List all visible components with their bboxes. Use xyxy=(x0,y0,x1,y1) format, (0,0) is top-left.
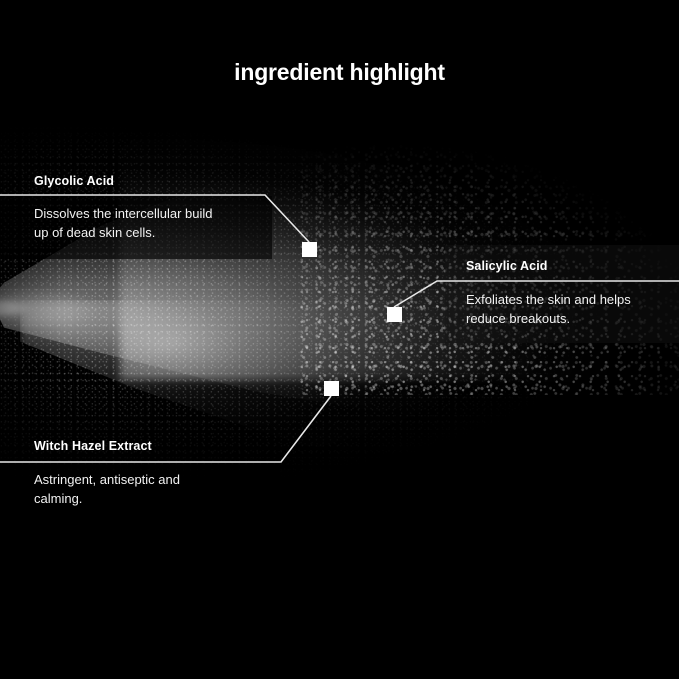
callout-body-salicylic-acid: Exfoliates the skin and helps reduce bre… xyxy=(466,290,631,328)
callout-title-glycolic-acid: Glycolic Acid xyxy=(34,174,212,188)
callout-salicylic-acid: Salicylic Acid Exfoliates the skin and h… xyxy=(466,259,631,328)
callout-body-glycolic-acid: Dissolves the intercellular build up of … xyxy=(34,204,212,242)
callout-witch-hazel-extract: Witch Hazel Extract Astringent, antisept… xyxy=(34,439,180,508)
callout-title-witch-hazel-extract: Witch Hazel Extract xyxy=(34,439,180,453)
marker-glycolic-acid[interactable] xyxy=(302,242,317,257)
ingredient-highlight-infographic: ingredient highlight Glycolic Acid Disso… xyxy=(0,0,679,679)
marker-salicylic-acid[interactable] xyxy=(387,307,402,322)
vignette-bottom xyxy=(0,380,679,679)
callout-glycolic-acid: Glycolic Acid Dissolves the intercellula… xyxy=(34,174,212,242)
callout-body-witch-hazel-extract: Astringent, antiseptic and calming. xyxy=(34,470,180,508)
callout-title-salicylic-acid: Salicylic Acid xyxy=(466,259,631,273)
marker-witch-hazel-extract[interactable] xyxy=(324,381,339,396)
page-title: ingredient highlight xyxy=(0,59,679,86)
